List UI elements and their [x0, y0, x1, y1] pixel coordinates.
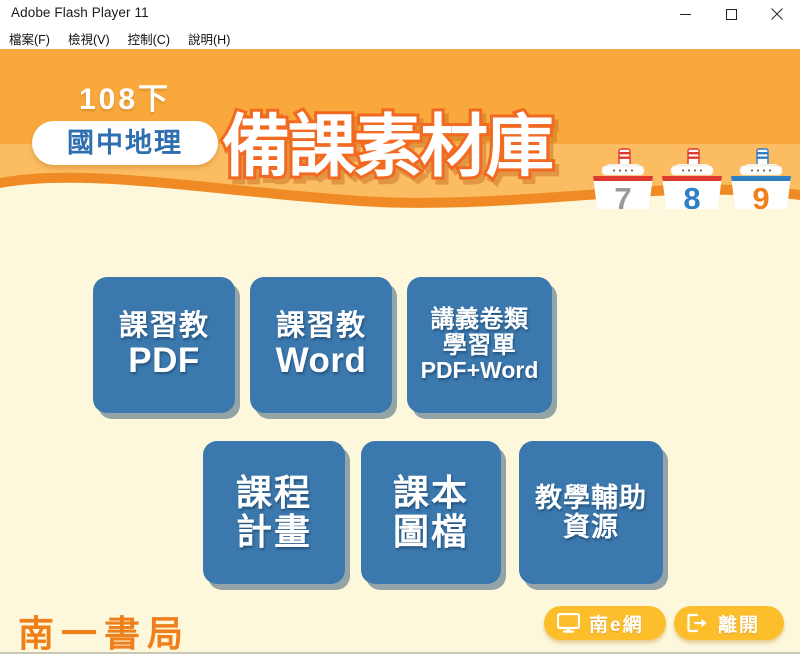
monitor-icon — [557, 613, 580, 633]
tile-line: 圖檔 — [393, 513, 469, 551]
close-icon — [771, 8, 783, 20]
grade-boat-7[interactable]: 7 — [592, 147, 654, 209]
subject-label: 國中地理 — [67, 130, 183, 157]
title-bar: Adobe Flash Player 11 — [0, 0, 800, 28]
grade-boat-9[interactable]: 9 — [730, 147, 792, 209]
minimize-icon — [680, 9, 691, 20]
flash-player-window: Adobe Flash Player 11 檔案(F) 檢視(V — [0, 0, 800, 654]
maximize-button[interactable] — [708, 0, 754, 28]
tile-line: PDF — [128, 342, 200, 379]
window-title: Adobe Flash Player 11 — [11, 5, 149, 20]
tile-line: 資源 — [563, 513, 619, 542]
tile-line: 課習教 — [119, 311, 209, 342]
tile-ke-ben-tu-dang[interactable]: 課本 圖檔 — [361, 441, 501, 584]
brand-logo: 南一書局 — [18, 605, 190, 654]
grade-selector: 7 8 — [592, 147, 797, 209]
tile-ke-xi-jiao-pdf[interactable]: 課習教 PDF — [93, 277, 235, 413]
page-title: 備課素材庫 — [222, 113, 552, 181]
grade-boat-label-7: 7 — [592, 183, 654, 209]
grade-boat-8[interactable]: 8 — [661, 147, 723, 209]
maximize-icon — [726, 9, 737, 20]
tile-line: 學習單 — [443, 333, 517, 358]
tile-line: 課習教 — [276, 311, 366, 342]
nan-e-net-label: 南e網 — [589, 610, 644, 637]
nan-e-net-button[interactable]: 南e網 — [544, 606, 666, 640]
menu-item-file[interactable]: 檔案(F) — [0, 29, 59, 48]
term-label: 108下 — [10, 85, 240, 115]
exit-label: 離開 — [718, 610, 760, 637]
tile-ke-cheng-ji-hua[interactable]: 課程 計畫 — [203, 441, 345, 584]
grade-boat-label-9: 9 — [730, 183, 792, 209]
menu-item-view[interactable]: 檢視(V) — [59, 29, 119, 48]
tile-ke-xi-jiao-word[interactable]: 課習教 Word — [250, 277, 392, 413]
menu-item-help[interactable]: 說明(H) — [179, 29, 239, 48]
header-banner: 108下 國中地理 備課素材庫 — [0, 49, 800, 209]
exit-icon — [687, 613, 709, 633]
tile-line: 課程 — [236, 474, 312, 512]
tile-jiao-xue-fu-zhu[interactable]: 教學輔助 資源 — [519, 441, 663, 584]
term-subject-badge: 108下 國中地理 — [10, 85, 240, 165]
tile-line: PDF+Word — [421, 358, 539, 382]
close-button[interactable] — [754, 0, 800, 28]
tile-line: 課本 — [393, 474, 469, 512]
minimize-button[interactable] — [662, 0, 708, 28]
tile-line: 講義卷類 — [431, 307, 529, 332]
flash-stage: 108下 國中地理 備課素材庫 — [0, 49, 800, 654]
grade-boat-label-8: 8 — [661, 183, 723, 209]
tile-line: Word — [276, 342, 367, 379]
menu-item-control[interactable]: 控制(C) — [119, 29, 179, 48]
exit-button[interactable]: 離開 — [674, 606, 784, 640]
tile-line: 計畫 — [236, 513, 312, 551]
tile-line: 教學輔助 — [535, 484, 647, 513]
tile-jiang-yi-juan-lei[interactable]: 講義卷類 學習單 PDF+Word — [407, 277, 552, 413]
window-controls — [662, 0, 800, 28]
subject-pill[interactable]: 國中地理 — [32, 121, 218, 165]
menu-bar: 檔案(F) 檢視(V) 控制(C) 說明(H) — [0, 28, 800, 49]
